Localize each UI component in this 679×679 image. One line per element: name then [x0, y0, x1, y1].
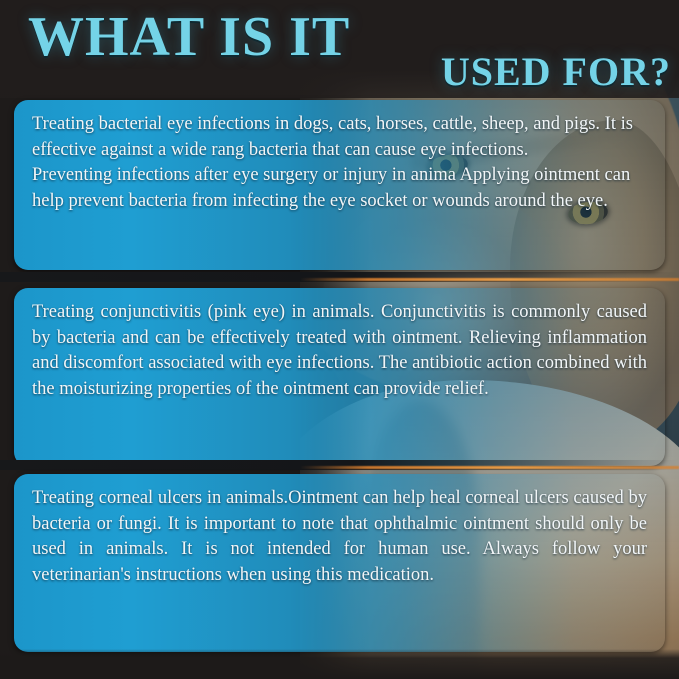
page-title-line2: USED FOR? — [441, 50, 671, 94]
content-panel-1: Treating bacterial eye infections in dog… — [14, 100, 665, 270]
footer-band — [0, 649, 679, 679]
panel-1-body: Treating bacterial eye infections in dog… — [14, 100, 665, 224]
panel-2-body: Treating conjunctivitis (pink eye) in an… — [14, 288, 665, 412]
title-group: WHAT IS IT USED FOR? — [0, 0, 679, 98]
content-panel-3: Treating corneal ulcers in animals.Ointm… — [14, 474, 665, 652]
divider-accent-line-2 — [300, 466, 679, 469]
panel-1-paragraph-1: Treating bacterial eye infections in dog… — [32, 112, 647, 163]
divider-accent-line-1 — [300, 278, 679, 281]
infographic-poster: WHAT IS IT USED FOR? Treating bacterial … — [0, 0, 679, 679]
content-panel-2: Treating conjunctivitis (pink eye) in an… — [14, 288, 665, 466]
panel-1-paragraph-2: Preventing infections after eye surgery … — [32, 163, 647, 214]
panel-3-body: Treating corneal ulcers in animals.Ointm… — [14, 474, 665, 598]
panel-2-paragraph: Treating conjunctivitis (pink eye) in an… — [32, 300, 647, 402]
page-title-line1: WHAT IS IT — [28, 6, 350, 68]
panel-3-paragraph: Treating corneal ulcers in animals.Ointm… — [32, 486, 647, 588]
